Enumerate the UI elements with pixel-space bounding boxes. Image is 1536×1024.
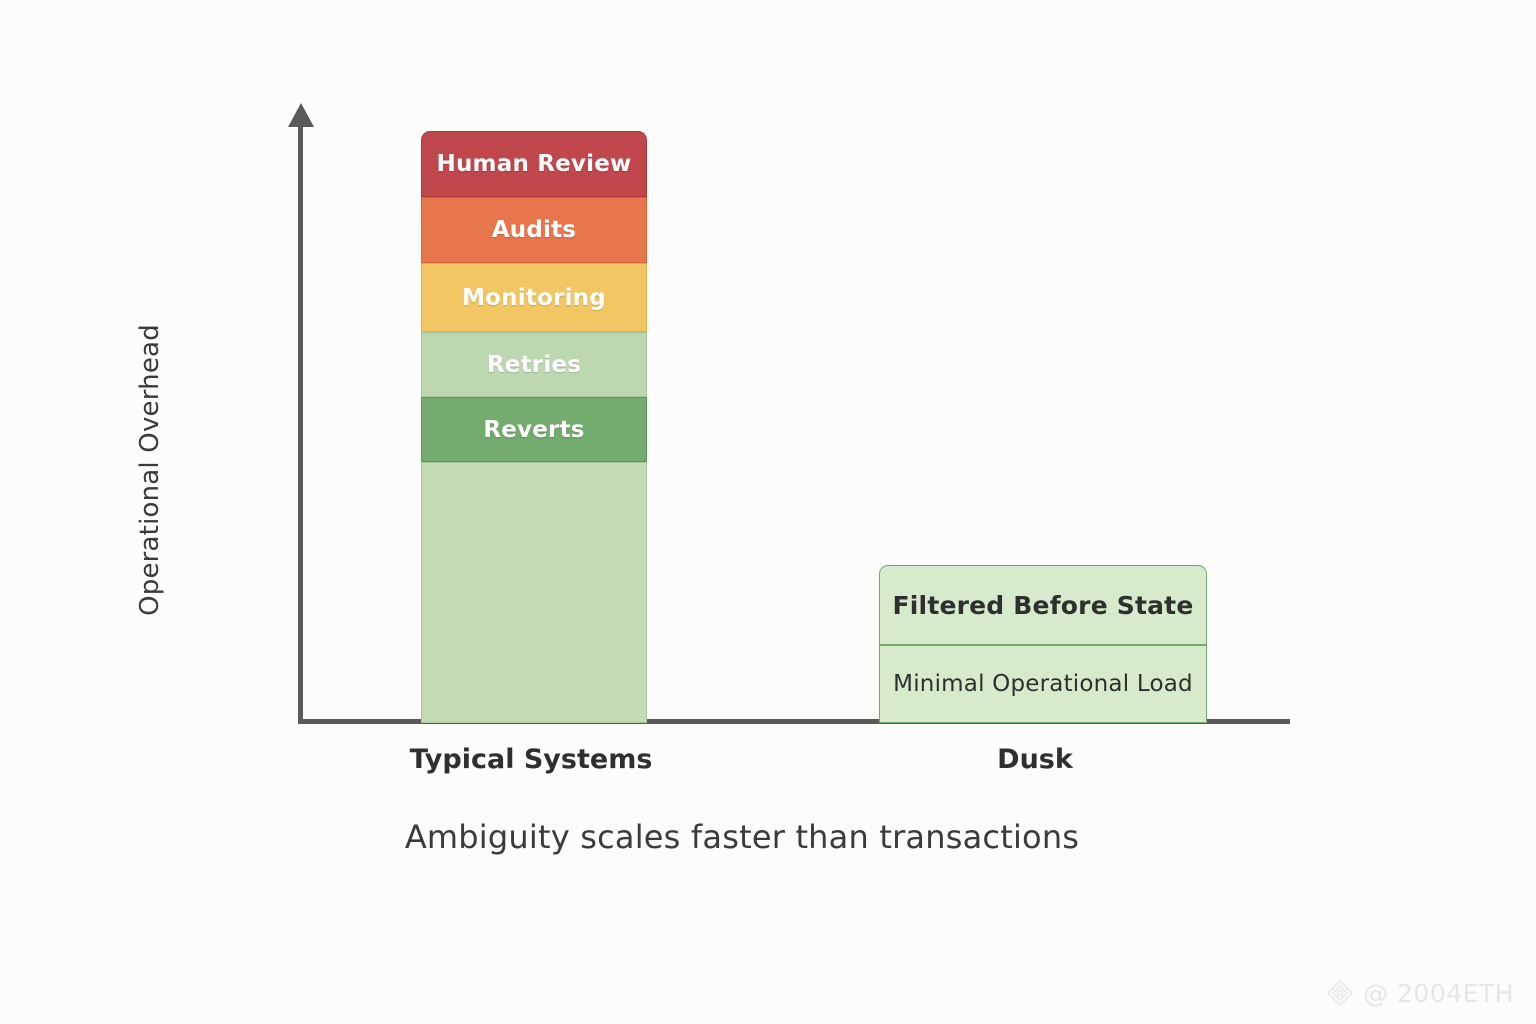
chart-canvas: Operational Overhead Human Review Audits… [0,0,1536,1024]
segment-label-minimal-operational-load: Minimal Operational Load [893,671,1193,697]
watermark: @ 2004ETH [1325,978,1514,1008]
segment-base-load [421,462,647,723]
segment-label-reverts: Reverts [483,417,584,443]
segment-label-filtered-before-state: Filtered Before State [893,591,1194,620]
segment-reverts: Reverts [421,397,647,462]
segment-minimal-operational-load: Minimal Operational Load [879,645,1207,723]
segment-label-human-review: Human Review [437,151,632,177]
x-label-typical-systems: Typical Systems [381,744,681,775]
segment-filtered-before-state: Filtered Before State [879,565,1207,645]
segment-audits: Audits [421,197,647,263]
diamond-logo-icon [1325,978,1355,1008]
segment-monitoring: Monitoring [421,263,647,332]
chart-caption: Ambiguity scales faster than transaction… [0,818,1484,856]
segment-label-monitoring: Monitoring [462,285,606,311]
bar-typical-systems: Human Review Audits Monitoring Retries R… [421,131,647,723]
watermark-handle: @ 2004ETH [1363,979,1514,1008]
segment-retries: Retries [421,332,647,397]
y-axis-line [298,122,303,723]
bar-dusk: Filtered Before State Minimal Operationa… [879,565,1207,723]
y-axis-title: Operational Overhead [135,260,165,680]
segment-label-retries: Retries [487,352,581,378]
x-label-dusk: Dusk [885,744,1185,775]
segment-human-review: Human Review [421,131,647,197]
segment-label-audits: Audits [492,217,576,243]
